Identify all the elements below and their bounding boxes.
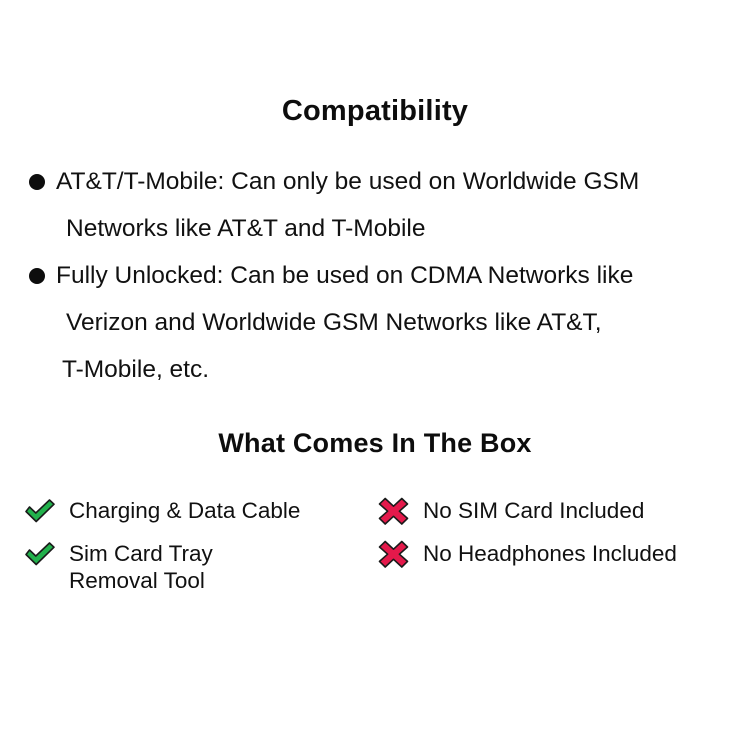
box-contents-heading: What Comes In The Box xyxy=(0,428,750,459)
product-info-panel: Compatibility AT&T/T-Mobile: Can only be… xyxy=(0,0,750,750)
compatibility-bullet-line: AT&T/T-Mobile: Can only be used on World… xyxy=(0,158,750,205)
compatibility-bullet-text: Fully Unlocked: Can be used on CDMA Netw… xyxy=(56,262,633,289)
cross-icon xyxy=(376,538,412,570)
excluded-item-label: No SIM Card Included xyxy=(412,494,644,524)
excluded-item-label: No Headphones Included xyxy=(412,537,677,567)
list-item: No Headphones Included xyxy=(376,537,746,577)
compatibility-bullet-item: AT&T/T-Mobile: Can only be used on World… xyxy=(0,158,750,252)
list-item: No SIM Card Included xyxy=(376,494,746,534)
excluded-items-column: No SIM Card Included No Headphones Inclu… xyxy=(376,494,746,580)
included-item-label: Charging & Data Cable xyxy=(58,494,300,524)
compatibility-bullet-text: AT&T/T-Mobile: Can only be used on World… xyxy=(56,168,639,195)
included-item-label: Sim Card Tray Removal Tool xyxy=(58,537,213,594)
compatibility-bullet-continuation: Networks like AT&T and T-Mobile xyxy=(0,205,750,252)
compatibility-heading: Compatibility xyxy=(0,95,750,128)
box-contents-grid: Charging & Data Cable Sim Card Tray Remo… xyxy=(0,494,750,624)
compatibility-bullet-continuation: T-Mobile, etc. xyxy=(0,346,750,393)
compatibility-bullet-continuation: Verizon and Worldwide GSM Networks like … xyxy=(0,299,750,346)
compatibility-bullet-item: Fully Unlocked: Can be used on CDMA Netw… xyxy=(0,252,750,393)
included-items-column: Charging & Data Cable Sim Card Tray Remo… xyxy=(22,494,372,580)
cross-icon xyxy=(376,495,412,527)
list-item: Sim Card Tray Removal Tool xyxy=(22,537,372,577)
bullet-dot-icon xyxy=(29,268,45,284)
compatibility-bullet-line: Fully Unlocked: Can be used on CDMA Netw… xyxy=(0,252,750,299)
check-icon xyxy=(22,495,58,527)
bullet-dot-icon xyxy=(29,174,45,190)
compatibility-list: AT&T/T-Mobile: Can only be used on World… xyxy=(0,158,750,393)
list-item: Charging & Data Cable xyxy=(22,494,372,534)
check-icon xyxy=(22,538,58,570)
